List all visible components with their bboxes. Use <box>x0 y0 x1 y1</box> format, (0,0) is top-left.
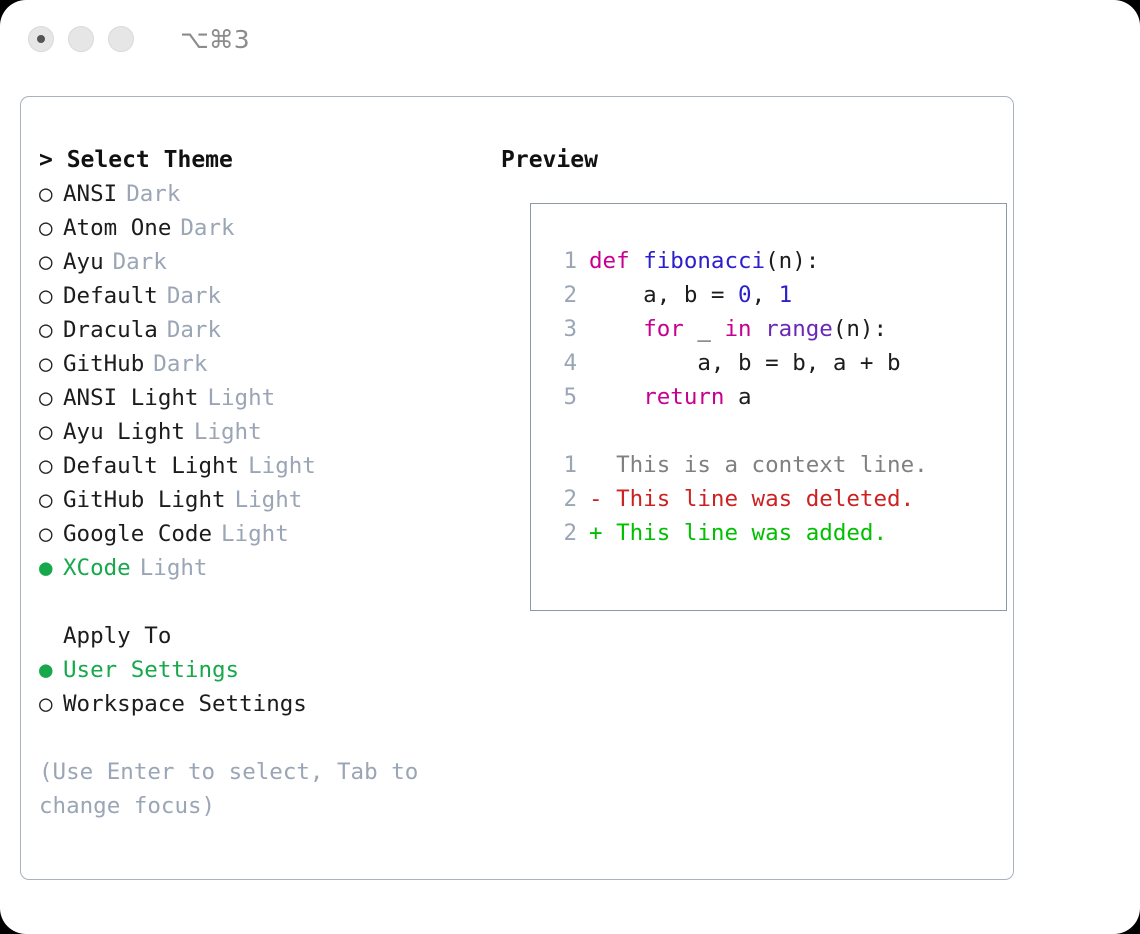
radio-unselected-icon[interactable]: ○ <box>39 347 63 381</box>
code-line-content: a, b = 0, 1 <box>589 278 792 312</box>
code-token: def <box>589 248 643 274</box>
code-token: return <box>643 384 724 410</box>
theme-list-item[interactable]: ○DefaultDark <box>39 279 479 313</box>
diff-line-number: 2 <box>547 516 577 550</box>
traffic-light-active[interactable] <box>28 26 54 52</box>
preview-column: Preview 1def fibonacci(n):2 a, b = 0, 13… <box>501 143 996 177</box>
code-token: , <box>752 282 779 308</box>
code-token: 0 <box>738 282 752 308</box>
code-token <box>589 384 643 410</box>
theme-name-label: Dracula <box>63 313 158 347</box>
theme-list: ○ANSIDark○Atom OneDark○AyuDark○DefaultDa… <box>39 177 479 585</box>
theme-selector-column: > Select Theme ○ANSIDark○Atom OneDark○Ay… <box>39 143 479 823</box>
diff-marker: - <box>589 482 616 516</box>
code-line-content: a, b = b, a + b <box>589 346 901 380</box>
code-token: _ <box>684 316 725 342</box>
code-line-content: for _ in range(n): <box>589 312 887 346</box>
code-spacer <box>547 414 1006 448</box>
window-shortcut-label: ⌥⌘3 <box>180 25 250 54</box>
apply-to-label: Workspace Settings <box>63 687 307 721</box>
code-token: range <box>765 316 833 342</box>
app-window: ⌥⌘3 > Select Theme ○ANSIDark○Atom OneDar… <box>0 0 1140 934</box>
radio-unselected-icon[interactable]: ○ <box>39 313 63 347</box>
theme-list-item[interactable]: ○GitHub LightLight <box>39 483 479 517</box>
radio-unselected-icon[interactable]: ○ <box>39 245 63 279</box>
diff-preview-block: 1 This is a context line.2- This line wa… <box>547 448 1006 550</box>
main-panel: > Select Theme ○ANSIDark○Atom OneDark○Ay… <box>20 96 1014 880</box>
apply-to-option[interactable]: ○Workspace Settings <box>39 687 479 721</box>
code-token: a, b = <box>589 282 738 308</box>
radio-unselected-icon[interactable]: ○ <box>39 415 63 449</box>
theme-name-label: ANSI Light <box>63 381 198 415</box>
radio-unselected-icon[interactable]: ○ <box>39 449 63 483</box>
radio-unselected-icon[interactable]: ○ <box>39 483 63 517</box>
theme-name-label: ANSI <box>63 177 117 211</box>
theme-list-item[interactable]: ○Atom OneDark <box>39 211 479 245</box>
theme-list-header: > Select Theme <box>39 143 479 177</box>
preview-box: 1def fibonacci(n):2 a, b = 0, 13 for _ i… <box>530 203 1007 611</box>
theme-kind-badge: Light <box>140 551 208 585</box>
theme-list-item[interactable]: ○Google CodeLight <box>39 517 479 551</box>
theme-kind-badge: Dark <box>167 313 221 347</box>
code-token <box>589 316 643 342</box>
diff-line-text: This line was added. <box>616 516 887 550</box>
code-token: for <box>643 316 684 342</box>
radio-unselected-icon[interactable]: ○ <box>39 177 63 211</box>
code-token: a <box>724 384 751 410</box>
line-number: 3 <box>547 312 577 346</box>
diff-marker <box>589 448 616 482</box>
theme-list-item[interactable]: ○DraculaDark <box>39 313 479 347</box>
radio-unselected-icon[interactable]: ○ <box>39 381 63 415</box>
theme-kind-badge: Light <box>221 517 289 551</box>
code-line: 3 for _ in range(n): <box>547 312 1006 346</box>
radio-selected-icon[interactable]: ● <box>39 653 63 687</box>
apply-to-option[interactable]: ●User Settings <box>39 653 479 687</box>
traffic-light-group <box>28 26 148 52</box>
code-line-content: def fibonacci(n): <box>589 244 819 278</box>
code-token <box>752 316 766 342</box>
theme-list-item[interactable]: ●XCodeLight <box>39 551 479 585</box>
radio-unselected-icon[interactable]: ○ <box>39 279 63 313</box>
traffic-light-second[interactable] <box>68 26 94 52</box>
preview-title: Preview <box>501 143 996 177</box>
theme-kind-badge: Light <box>207 381 275 415</box>
code-line-content: return a <box>589 380 752 414</box>
diff-line-number: 2 <box>547 482 577 516</box>
line-number: 1 <box>547 244 577 278</box>
theme-name-label: Default Light <box>63 449 239 483</box>
theme-name-label: Atom One <box>63 211 171 245</box>
theme-name-label: Ayu Light <box>63 415 185 449</box>
radio-unselected-icon[interactable]: ○ <box>39 687 63 721</box>
apply-to-label: User Settings <box>63 653 239 687</box>
code-line: 5 return a <box>547 380 1006 414</box>
theme-kind-badge: Dark <box>167 279 221 313</box>
apply-to-header: Apply To <box>39 619 479 653</box>
theme-kind-badge: Dark <box>153 347 207 381</box>
code-token: in <box>724 316 751 342</box>
diff-line: 2- This line was deleted. <box>547 482 1006 516</box>
theme-name-label: Default <box>63 279 158 313</box>
code-line: 4 a, b = b, a + b <box>547 346 1006 380</box>
diff-line: 2+ This line was added. <box>547 516 1006 550</box>
code-token: fibonacci <box>643 248 765 274</box>
theme-name-label: GitHub Light <box>63 483 226 517</box>
diff-marker: + <box>589 516 616 550</box>
theme-kind-badge: Dark <box>113 245 167 279</box>
theme-kind-badge: Light <box>248 449 316 483</box>
theme-list-item[interactable]: ○ANSI LightLight <box>39 381 479 415</box>
code-line: 1def fibonacci(n): <box>547 244 1006 278</box>
diff-line: 1 This is a context line. <box>547 448 1006 482</box>
diff-line-text: This is a context line. <box>616 448 928 482</box>
theme-name-label: GitHub <box>63 347 144 381</box>
radio-selected-icon[interactable]: ● <box>39 551 63 585</box>
code-token: a, b = b, a + b <box>589 350 901 376</box>
keyboard-hint-text: (Use Enter to select, Tab to change focu… <box>39 755 439 823</box>
theme-name-label: Google Code <box>63 517 212 551</box>
code-preview-block: 1def fibonacci(n):2 a, b = 0, 13 for _ i… <box>547 244 1006 414</box>
theme-kind-badge: Dark <box>180 211 234 245</box>
code-token: (n): <box>833 316 887 342</box>
theme-name-label: XCode <box>63 551 131 585</box>
line-number: 4 <box>547 346 577 380</box>
line-number: 5 <box>547 380 577 414</box>
theme-kind-badge: Dark <box>126 177 180 211</box>
code-token: (n): <box>765 248 819 274</box>
theme-list-item[interactable]: ○Ayu LightLight <box>39 415 479 449</box>
theme-list-item[interactable]: ○Default LightLight <box>39 449 479 483</box>
traffic-light-third[interactable] <box>108 26 134 52</box>
theme-name-label: Ayu <box>63 245 104 279</box>
code-line: 2 a, b = 0, 1 <box>547 278 1006 312</box>
theme-kind-badge: Light <box>235 483 303 517</box>
theme-list-item[interactable]: ○ANSIDark <box>39 177 479 211</box>
traffic-light-dot <box>37 35 45 43</box>
radio-unselected-icon[interactable]: ○ <box>39 211 63 245</box>
code-token: 1 <box>779 282 793 308</box>
diff-line-number: 1 <box>547 448 577 482</box>
radio-unselected-icon[interactable]: ○ <box>39 517 63 551</box>
theme-kind-badge: Light <box>194 415 262 449</box>
apply-to-list: ●User Settings○Workspace Settings <box>39 653 479 721</box>
theme-list-item[interactable]: ○GitHubDark <box>39 347 479 381</box>
diff-line-text: This line was deleted. <box>616 482 914 516</box>
title-bar: ⌥⌘3 <box>0 0 1140 78</box>
line-number: 2 <box>547 278 577 312</box>
theme-list-item[interactable]: ○AyuDark <box>39 245 479 279</box>
